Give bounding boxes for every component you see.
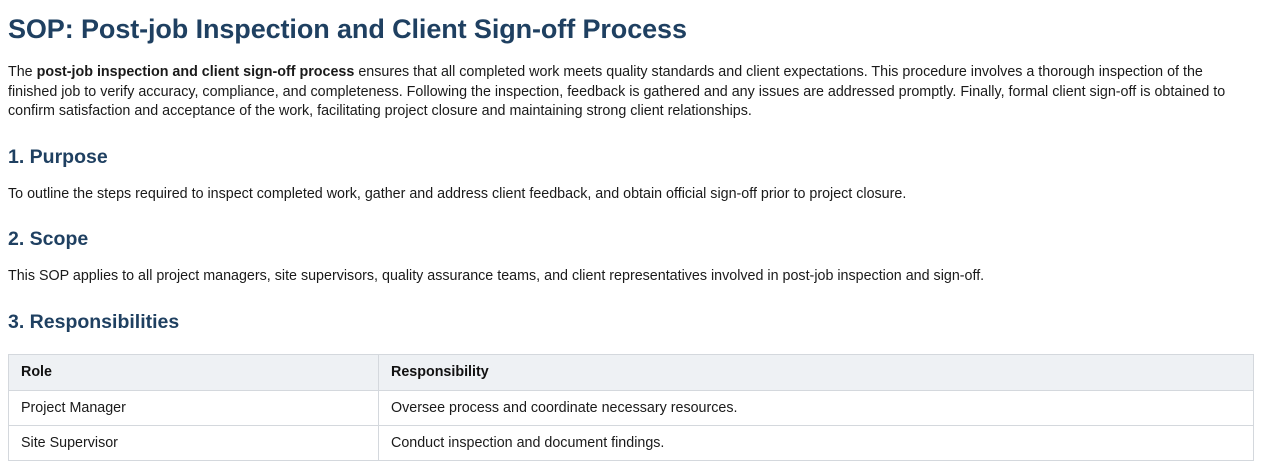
column-header-role: Role bbox=[9, 354, 379, 390]
cell-responsibility: Oversee process and coordinate necessary… bbox=[379, 390, 1254, 425]
responsibilities-table: Role Responsibility Project Manager Over… bbox=[8, 354, 1254, 461]
cell-responsibility: Conduct inspection and document findings… bbox=[379, 425, 1254, 460]
intro-lead-text: The bbox=[8, 64, 37, 80]
table-body: Project Manager Oversee process and coor… bbox=[9, 390, 1254, 460]
table-row: Project Manager Oversee process and coor… bbox=[9, 390, 1254, 425]
column-header-responsibility: Responsibility bbox=[379, 354, 1254, 390]
cell-role: Site Supervisor bbox=[9, 425, 379, 460]
intro-bold-phrase: post-job inspection and client sign-off … bbox=[37, 64, 355, 80]
document-page: SOP: Post-job Inspection and Client Sign… bbox=[0, 0, 1263, 461]
section-heading-scope: 2. Scope bbox=[8, 227, 1253, 251]
table-header: Role Responsibility bbox=[9, 354, 1254, 390]
section-body-scope: This SOP applies to all project managers… bbox=[8, 267, 1253, 287]
section-body-purpose: To outline the steps required to inspect… bbox=[8, 185, 1253, 205]
table-row: Site Supervisor Conduct inspection and d… bbox=[9, 425, 1254, 460]
table-header-row: Role Responsibility bbox=[9, 354, 1254, 390]
intro-paragraph: The post-job inspection and client sign-… bbox=[8, 63, 1243, 122]
responsibilities-table-wrapper: Role Responsibility Project Manager Over… bbox=[8, 354, 1253, 461]
section-heading-purpose: 1. Purpose bbox=[8, 145, 1253, 169]
cell-role: Project Manager bbox=[9, 390, 379, 425]
page-title: SOP: Post-job Inspection and Client Sign… bbox=[8, 12, 1253, 46]
section-heading-responsibilities: 3. Responsibilities bbox=[8, 310, 1253, 334]
